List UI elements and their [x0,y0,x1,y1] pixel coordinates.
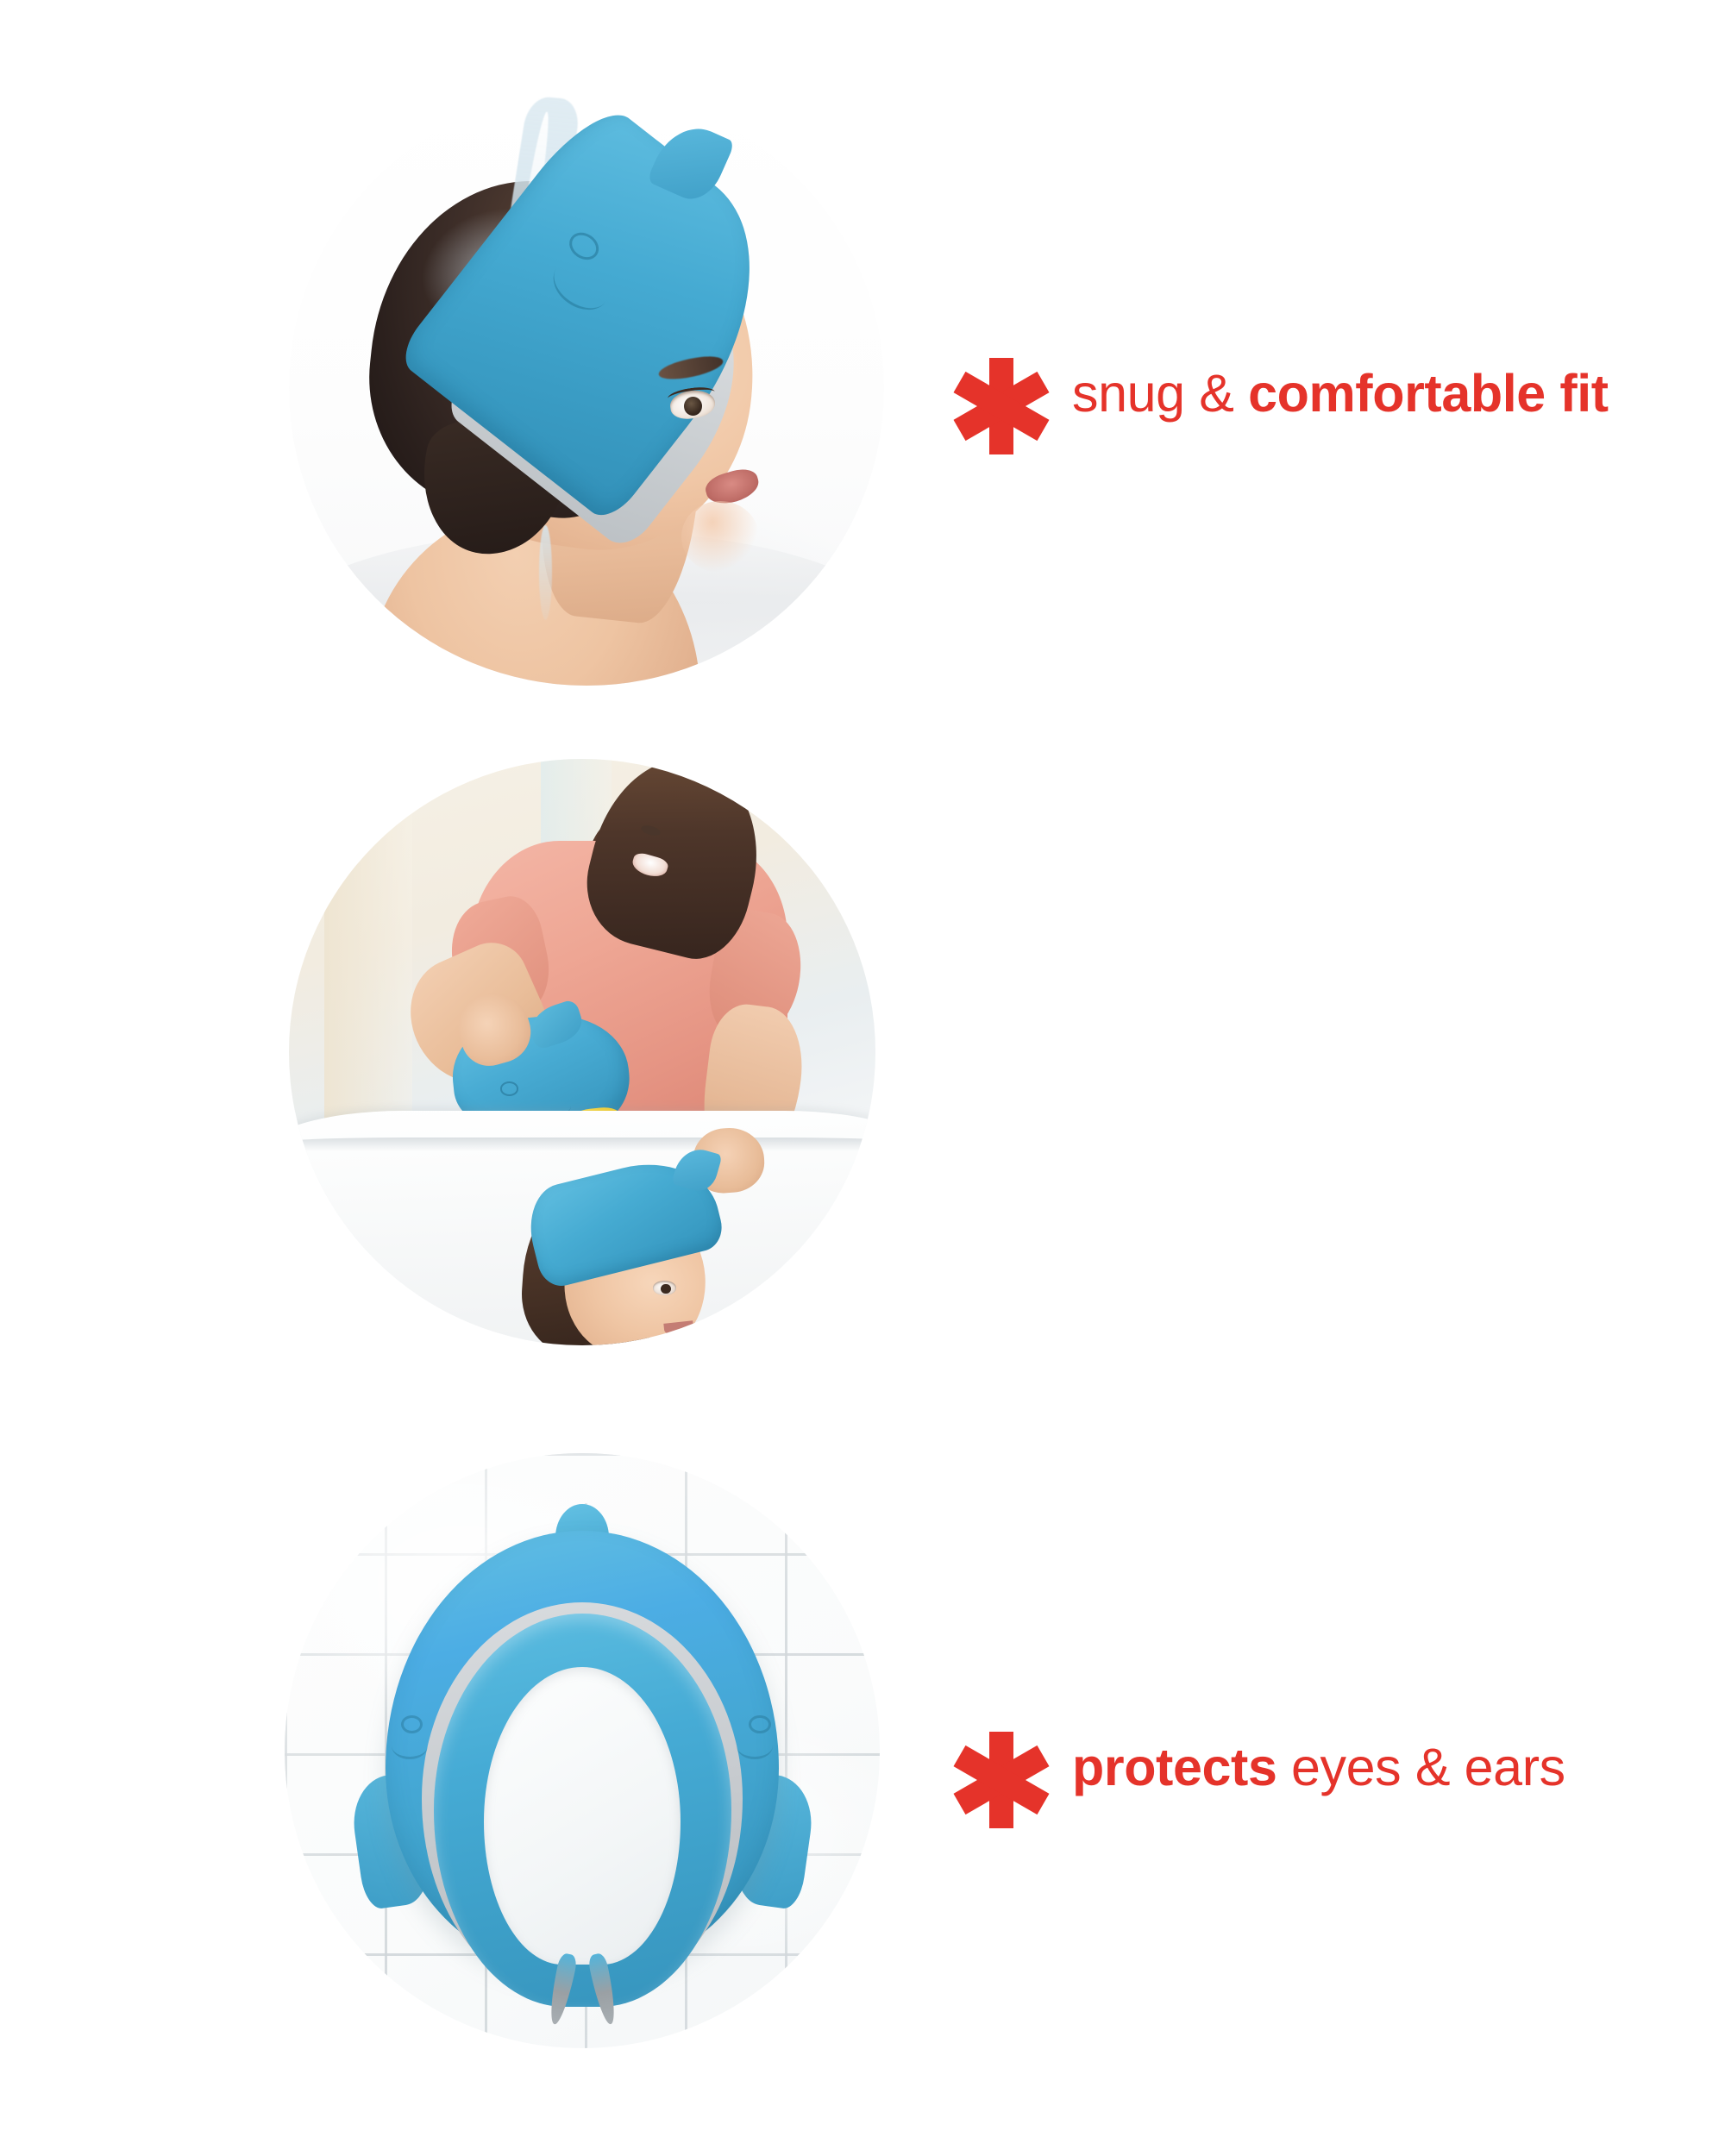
asterisk-icon [953,358,1050,454]
feature-1-bold-text: comfortable fit [1248,364,1609,423]
visor-on-tile-wall-photo [285,1453,880,2048]
child-pupil [661,1284,671,1294]
feature-row-3: suctions to wall to store & dry [0,1436,1725,2117]
whale-eye-left-icon [401,1715,423,1733]
child-chin-highlight [681,501,759,573]
child-wearing-visor-photo [289,91,884,686]
bathtub-edge-line [289,1138,875,1151]
whale-rinser-eye-icon [500,1081,519,1096]
infographic-page: snug & comfortable fit [0,0,1725,2156]
wall-panel-left [324,759,412,1169]
whale-eye-right-icon [749,1715,770,1733]
whale-smile-right-icon [737,1733,772,1759]
feature-row-2: protects eyes & ears [0,737,1725,1419]
whale-smile-left-icon [392,1733,427,1759]
feature-1-line-1: snug & comfortable fit [1072,364,1609,423]
feature-1-light-text: snug & [1072,364,1248,423]
water-drip [539,525,552,620]
photo-1-scene [289,91,884,686]
visor-head-opening [484,1667,681,1965]
feature-1-lines: snug & comfortable fit [1072,356,1609,424]
parent-rinsing-child-photo [289,759,875,1345]
feature-1-text-block: snug & comfortable fit [953,356,1609,454]
photo-3-scene [285,1453,880,2048]
feature-row-1: snug & comfortable fit [0,34,1725,716]
photo-2-scene [289,759,875,1345]
